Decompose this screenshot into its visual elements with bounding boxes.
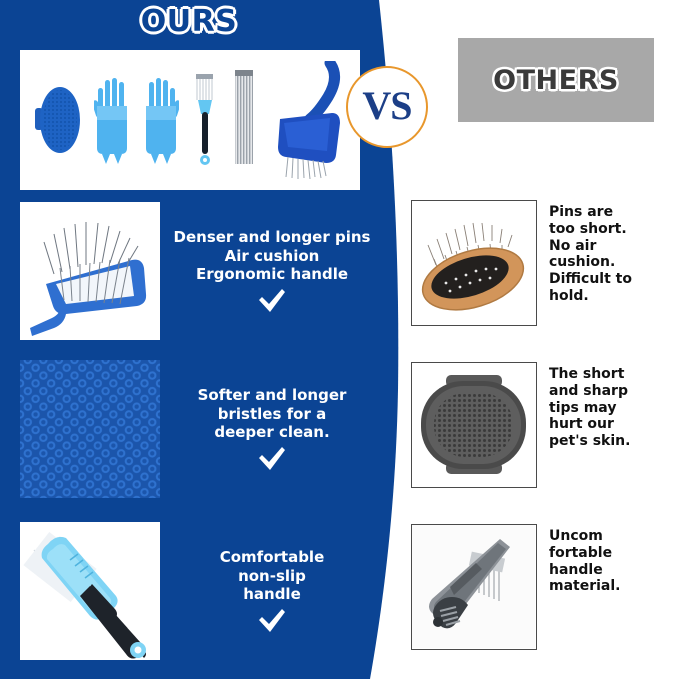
- caption-line: pet's skin.: [549, 433, 673, 450]
- ours-row-1: Denser and longer pins Air cushion Ergon…: [20, 202, 378, 340]
- caption-line: Comfortable: [170, 548, 374, 567]
- others-gray-rubber-curry-brush-photo: [411, 362, 537, 488]
- silicone-bristle-closeup-graphic: [20, 360, 160, 498]
- caption-line: too short.: [549, 221, 673, 238]
- others-row-3-caption: Uncom fortable handle material.: [537, 524, 673, 595]
- others-row-2-caption: The short and sharp tips may hurt our pe…: [537, 362, 673, 450]
- caption-line: Denser and longer pins: [170, 228, 374, 247]
- check-icon: [257, 446, 287, 472]
- ours-row-3: Comfortable non-slip handle: [20, 522, 378, 660]
- silicone-glove-right-icon: [143, 74, 179, 166]
- caption-line: Softer and longer: [170, 386, 374, 405]
- gray-metal-flea-comb-graphic: [412, 525, 535, 648]
- others-heading-banner: OTHERS: [458, 38, 654, 122]
- caption-line: material.: [549, 578, 673, 595]
- ours-heading-text: OURS: [141, 4, 238, 39]
- oval-rubber-bath-brush-icon: [35, 80, 81, 160]
- blue-flea-comb-icon: [192, 70, 218, 170]
- caption-line: handle: [170, 585, 374, 604]
- caption-line: Ergonomic handle: [170, 265, 374, 284]
- metal-grooming-comb-icon: [231, 68, 257, 172]
- others-row-1-caption: Pins are too short. No air cushion. Diff…: [537, 200, 673, 305]
- caption-line: and sharp: [549, 383, 673, 400]
- check-icon: [257, 608, 287, 634]
- ours-heading: OURS: [0, 4, 378, 39]
- ours-blue-flea-comb-photo: [20, 522, 160, 660]
- ours-kit-items: [20, 50, 360, 190]
- caption-line: handle: [549, 562, 673, 579]
- ours-silicone-bristle-closeup-photo: [20, 360, 160, 498]
- silicone-glove-left-icon: [94, 74, 130, 166]
- caption-line: Pins are: [549, 204, 673, 221]
- others-wooden-pin-brush-photo: [411, 200, 537, 326]
- ours-row-1-caption: Denser and longer pins Air cushion Ergon…: [160, 228, 378, 314]
- caption-line: Difficult to: [549, 271, 673, 288]
- others-row-1: Pins are too short. No air cushion. Diff…: [411, 200, 673, 326]
- ours-row-2-caption: Softer and longer bristles for a deeper …: [160, 386, 378, 472]
- ours-kit-photo: [20, 50, 360, 190]
- others-row-2: The short and sharp tips may hurt our pe…: [411, 362, 673, 488]
- check-icon: [257, 288, 287, 314]
- others-gray-metal-flea-comb-photo: [411, 524, 537, 650]
- wooden-pin-brush-photo-graphic: [412, 201, 535, 324]
- caption-line: bristles for a: [170, 405, 374, 424]
- caption-line: Air cushion: [170, 247, 374, 266]
- vs-label: VS: [362, 86, 411, 126]
- caption-line: The short: [549, 366, 673, 383]
- caption-line: hurt our: [549, 416, 673, 433]
- gray-rubber-curry-brush-graphic: [412, 363, 535, 486]
- ours-row-3-caption: Comfortable non-slip handle: [160, 548, 378, 634]
- vs-badge: VS: [346, 66, 428, 148]
- blue-flea-comb-photo-graphic: [20, 522, 160, 660]
- caption-line: deeper clean.: [170, 423, 374, 442]
- blue-slicker-brush-icon: [270, 61, 346, 179]
- caption-line: tips may: [549, 400, 673, 417]
- caption-line: non-slip: [170, 567, 374, 586]
- caption-line: hold.: [549, 288, 673, 305]
- others-row-3: Uncom fortable handle material.: [411, 524, 673, 650]
- slicker-brush-photo-graphic: [20, 202, 160, 340]
- caption-line: No air: [549, 238, 673, 255]
- comparison-infographic: OURS: [0, 0, 679, 679]
- ours-row-2: Softer and longer bristles for a deeper …: [20, 360, 378, 498]
- caption-line: fortable: [549, 545, 673, 562]
- ours-slicker-brush-photo: [20, 202, 160, 340]
- caption-line: Uncom: [549, 528, 673, 545]
- caption-line: cushion.: [549, 254, 673, 271]
- others-heading-text: OTHERS: [493, 65, 619, 96]
